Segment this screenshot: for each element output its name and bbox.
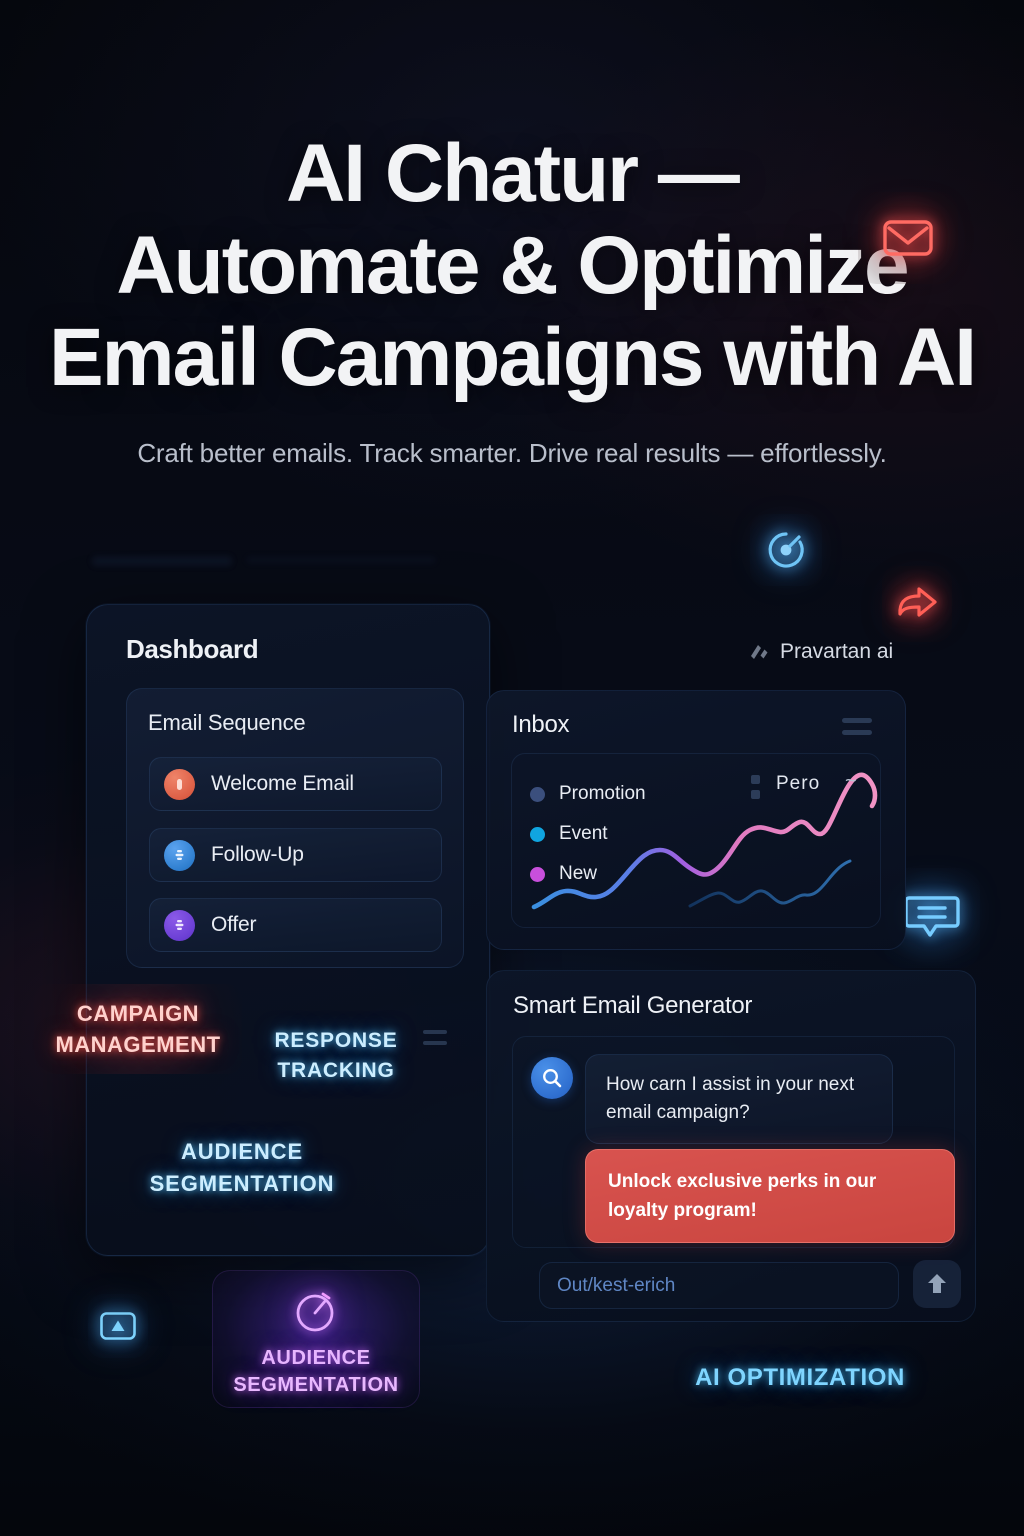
- legend-color-dot: [530, 867, 545, 882]
- generator-title: Smart Email Generator: [513, 992, 752, 1020]
- dashboard-title: Dashboard: [126, 634, 258, 665]
- legend-item-new[interactable]: New: [530, 854, 646, 894]
- sequence-item-label: Offer: [211, 913, 256, 937]
- media-triangle-icon-tile[interactable]: [88, 1294, 148, 1358]
- chart-range-caret-icon[interactable]: ~: [845, 770, 857, 793]
- target-scan-icon: [765, 529, 807, 571]
- chip-audience-segmentation[interactable]: AUDIENCE SEGMENTATION: [116, 1136, 368, 1200]
- sequence-item-follow-up[interactable]: Follow-Up: [149, 828, 442, 882]
- chip-campaign-management[interactable]: CAMPAIGN MANAGEMENT: [34, 984, 242, 1074]
- audience-segmentation-card[interactable]: AUDIENCE SEGMENTATION: [212, 1270, 420, 1408]
- share-arrow-icon: [894, 585, 940, 623]
- chart-series-promotion: [690, 861, 850, 906]
- envelope-icon: [882, 218, 934, 258]
- page-subtitle: Craft better emails. Track smarter. Driv…: [0, 438, 1024, 469]
- handle-dot: [751, 790, 760, 799]
- sequence-step-badge-icon: [164, 840, 195, 871]
- hero-section: AI Chatur — Automate & Optimize Email Ca…: [0, 128, 1024, 469]
- menu-bar: [423, 1041, 447, 1045]
- mail-icon-tile[interactable]: [858, 192, 958, 284]
- arrow-up-icon: [926, 1272, 948, 1296]
- legend-item-event[interactable]: Event: [530, 814, 646, 854]
- generator-prompt-input[interactable]: Out/kest-erich: [539, 1262, 899, 1309]
- chip-ai-optimization[interactable]: AI OPTIMIZATION: [650, 1364, 950, 1392]
- assistant-avatar: [531, 1057, 573, 1099]
- menu-bar: [423, 1030, 447, 1034]
- audience-card-label: AUDIENCE SEGMENTATION: [213, 1345, 419, 1399]
- page-root: AI Chatur — Automate & Optimize Email Ca…: [0, 0, 1024, 1536]
- legend-label: Promotion: [559, 783, 646, 805]
- chat-bubble-icon: [904, 892, 960, 944]
- chart-filter-handle-icon[interactable]: [751, 775, 760, 799]
- chart-range-selector[interactable]: Pero: [776, 773, 820, 795]
- sequence-item-welcome-email[interactable]: Welcome Email: [149, 757, 442, 811]
- sequence-item-offer[interactable]: Offer: [149, 898, 442, 952]
- brand-label: Pravartan ai: [780, 640, 893, 664]
- legend-color-dot: [530, 787, 545, 802]
- sequence-step-badge-icon: [164, 910, 195, 941]
- step-glyph-icon: [173, 918, 186, 932]
- chart-legend: Promotion Event New: [530, 774, 646, 894]
- chip-response-tracking[interactable]: RESPONSE TRACKING: [258, 1026, 414, 1086]
- generator-prompt-placeholder: Out/kest-erich: [557, 1275, 675, 1297]
- inbox-menu-icon[interactable]: [842, 718, 872, 735]
- legend-label: Event: [559, 823, 608, 845]
- step-glyph-icon: [174, 777, 185, 792]
- bg-streak: [246, 556, 436, 564]
- scan-icon-tile[interactable]: [750, 514, 822, 586]
- legend-label: New: [559, 863, 597, 885]
- legend-item-promotion[interactable]: Promotion: [530, 774, 646, 814]
- triangle-in-frame-icon: [99, 1311, 137, 1341]
- sequence-item-label: Follow-Up: [211, 843, 304, 867]
- brand-logo: Pravartan ai: [748, 640, 893, 664]
- menu-bar: [842, 718, 872, 723]
- assistant-message-bubble: How carn I assist in your next email cam…: [585, 1054, 893, 1144]
- send-button[interactable]: [913, 1260, 961, 1308]
- inbox-title: Inbox: [512, 711, 569, 739]
- pravartan-logo-icon: [748, 642, 770, 662]
- search-icon: [541, 1067, 563, 1089]
- email-sequence-title: Email Sequence: [148, 710, 305, 736]
- sequence-item-label: Welcome Email: [211, 772, 354, 796]
- menu-bar: [842, 730, 872, 735]
- suggestion-message-bubble[interactable]: Unlock exclusive perks in our loyalty pr…: [585, 1149, 955, 1243]
- share-arrow-icon-tile[interactable]: [882, 566, 952, 642]
- title-line-3: Email Campaigns with AI: [0, 312, 1024, 404]
- bg-streak: [92, 556, 232, 566]
- legend-color-dot: [530, 827, 545, 842]
- step-glyph-icon: [173, 848, 186, 862]
- handle-dot: [751, 775, 760, 784]
- stopwatch-icon: [290, 1285, 342, 1337]
- response-tracking-menu-icon[interactable]: [423, 1030, 447, 1045]
- sequence-step-badge-icon: [164, 769, 195, 800]
